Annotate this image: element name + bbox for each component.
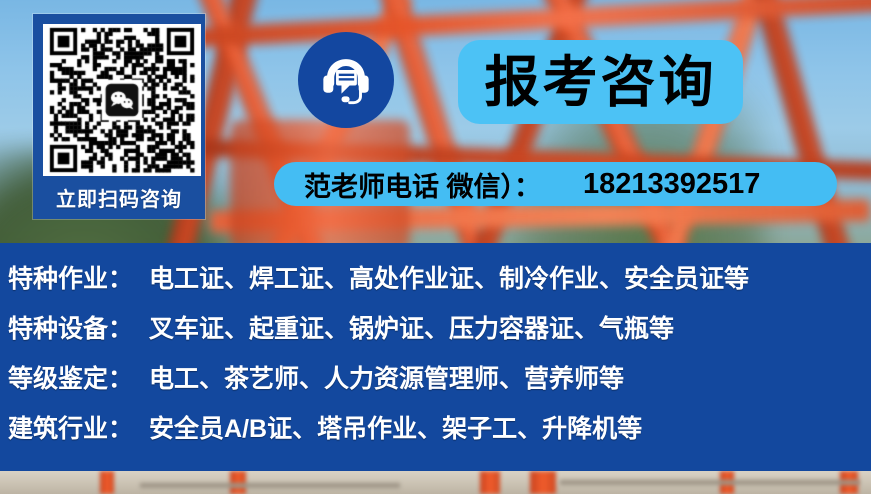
- bottom-photo-strip: [0, 471, 871, 494]
- qr-card[interactable]: 立即扫码咨询: [33, 14, 205, 219]
- strip-rail: [560, 480, 860, 485]
- category-label: 等级鉴定：: [8, 359, 133, 395]
- strip-post: [530, 471, 556, 494]
- category-label: 特种作业：: [8, 259, 133, 295]
- category-value: 电工、茶艺师、人力资源管理师、营养师等: [149, 359, 624, 395]
- title-pill: 报考咨询: [458, 40, 743, 124]
- strip-post: [100, 471, 114, 494]
- category-label: 特种设备：: [8, 309, 133, 345]
- promo-poster: 立即扫码咨询 报考咨询 范老师电话 微信）： 18213392517 特种作业：…: [0, 0, 871, 494]
- category-value: 叉车证、起重证、锅炉证、压力容器证、气瓶等: [149, 309, 674, 345]
- qr-caption: 立即扫码咨询: [36, 183, 202, 212]
- category-value: 安全员A/B证、塔吊作业、架子工、升降机等: [149, 409, 642, 445]
- strip-rail: [140, 483, 400, 488]
- strip-post: [480, 471, 500, 494]
- contact-phone-number[interactable]: 18213392517: [583, 168, 760, 201]
- page-title: 报考咨询: [484, 55, 716, 110]
- qr-canvas[interactable]: [43, 24, 201, 176]
- contact-pill[interactable]: 范老师电话 微信）： 18213392517: [274, 162, 837, 206]
- category-panel: 特种作业： 电工证、焊工证、高处作业证、制冷作业、安全员证等 特种设备： 叉车证…: [0, 243, 871, 471]
- headset-support-icon: [298, 32, 394, 128]
- contact-label: 范老师电话 微信）：: [304, 165, 541, 204]
- qr-code-image[interactable]: [43, 24, 201, 176]
- category-value: 电工证、焊工证、高处作业证、制冷作业、安全员证等: [149, 259, 749, 295]
- category-row: 等级鉴定： 电工、茶艺师、人力资源管理师、营养师等: [8, 359, 871, 409]
- category-row: 建筑行业： 安全员A/B证、塔吊作业、架子工、升降机等: [8, 409, 871, 459]
- category-label: 建筑行业：: [8, 409, 133, 445]
- category-row: 特种设备： 叉车证、起重证、锅炉证、压力容器证、气瓶等: [8, 309, 871, 359]
- category-row: 特种作业： 电工证、焊工证、高处作业证、制冷作业、安全员证等: [8, 259, 871, 309]
